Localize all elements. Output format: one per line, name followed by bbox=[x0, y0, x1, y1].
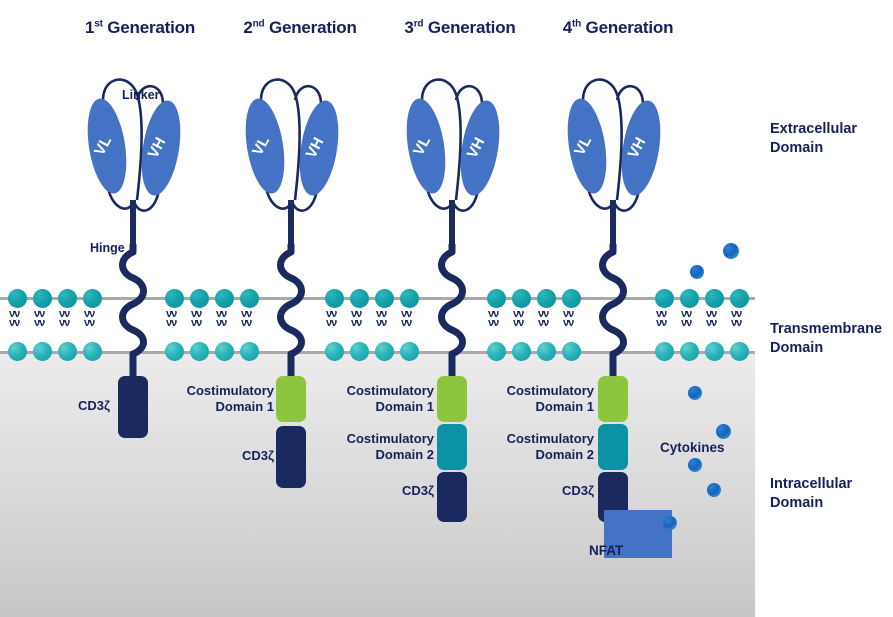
transmembrane-helix bbox=[117, 244, 149, 380]
lipid-head-icon bbox=[33, 289, 52, 308]
lipid-head-icon bbox=[400, 342, 419, 361]
lipid-tail-icon: νννν bbox=[488, 310, 498, 328]
gen3-box-cos2 bbox=[437, 424, 467, 470]
cytokine-particle bbox=[707, 483, 721, 497]
lipid-head-icon bbox=[655, 289, 674, 308]
lipid-head-icon bbox=[537, 342, 556, 361]
gen4-costim2-label: Costimulatory Domain 2 bbox=[496, 431, 594, 464]
lipid-tail-icon: νννν bbox=[9, 310, 19, 328]
gen3-box-cos1 bbox=[437, 376, 467, 422]
lipid-head-icon bbox=[165, 342, 184, 361]
lipid-head-icon bbox=[215, 342, 234, 361]
gen-suffix: nd bbox=[253, 18, 265, 29]
gen-ordinal: 2 bbox=[243, 18, 252, 37]
cytokine-particle bbox=[663, 516, 677, 530]
hinge-region bbox=[288, 200, 294, 248]
lipid-head-icon bbox=[83, 289, 102, 308]
lipid-head-icon bbox=[350, 342, 369, 361]
lipid-head-icon bbox=[190, 289, 209, 308]
gen2-costim1-label: Costimulatory Domain 1 bbox=[176, 383, 274, 416]
lipid-tail-icon: νννν bbox=[731, 310, 741, 328]
gen4-box-cos1 bbox=[598, 376, 628, 422]
lipid-tail-icon: νννν bbox=[326, 310, 336, 328]
lipid-tail-icon: νννν bbox=[706, 310, 716, 328]
lipid-head-icon bbox=[537, 289, 556, 308]
linker-label: Linker bbox=[122, 88, 160, 102]
lipid-head-icon bbox=[705, 342, 724, 361]
gen-label: Generation bbox=[586, 18, 674, 37]
lipid-tail-icon: νννν bbox=[656, 310, 666, 328]
lipid-head-icon bbox=[487, 342, 506, 361]
lipid-tail-icon: νννν bbox=[241, 310, 251, 328]
generation-title-2: 2nd Generation bbox=[243, 18, 356, 38]
lipid-tail-icon: νννν bbox=[513, 310, 523, 328]
gen-suffix: th bbox=[572, 18, 581, 29]
lipid-tail-icon: νννν bbox=[59, 310, 69, 328]
generation-title-3: 3rd Generation bbox=[404, 18, 515, 38]
hinge-region bbox=[610, 200, 616, 248]
cytokines-label: Cytokines bbox=[660, 440, 725, 455]
lipid-head-icon bbox=[375, 289, 394, 308]
cytokine-particle bbox=[723, 243, 739, 259]
car-generations-diagram: 1st Generation 2nd Generation 3rd Genera… bbox=[0, 0, 893, 617]
lipid-head-icon bbox=[655, 342, 674, 361]
cytokine-particle bbox=[688, 386, 702, 400]
lipid-head-icon bbox=[58, 342, 77, 361]
side-label-transmembrane: Transmembrane Domain bbox=[770, 320, 882, 358]
lipid-tail-icon: νννν bbox=[563, 310, 573, 328]
lipid-head-icon bbox=[512, 289, 531, 308]
gen-suffix: rd bbox=[414, 18, 424, 29]
hinge-region bbox=[130, 200, 136, 248]
gen-ordinal: 3 bbox=[404, 18, 413, 37]
lipid-head-icon bbox=[705, 289, 724, 308]
gen-label: Generation bbox=[269, 18, 357, 37]
lipid-head-icon bbox=[730, 289, 749, 308]
lipid-head-icon bbox=[325, 289, 344, 308]
lipid-tail-icon: νννν bbox=[681, 310, 691, 328]
gen-ordinal: 1 bbox=[85, 18, 94, 37]
generation-title-1: 1st Generation bbox=[85, 18, 195, 38]
lipid-tail-icon: νννν bbox=[401, 310, 411, 328]
cytokine-particle bbox=[690, 265, 704, 279]
lipid-head-icon bbox=[8, 342, 27, 361]
lipid-head-icon bbox=[8, 289, 27, 308]
lipid-head-icon bbox=[190, 342, 209, 361]
lipid-tail-icon: νννν bbox=[84, 310, 94, 328]
transmembrane-helix bbox=[436, 244, 468, 380]
gen-ordinal: 4 bbox=[563, 18, 572, 37]
gen4-box-cos2 bbox=[598, 424, 628, 470]
lipid-tail-icon: νννν bbox=[376, 310, 386, 328]
gen2-cd3zeta-label: CD3ζ bbox=[176, 448, 274, 464]
cytokine-particle bbox=[688, 458, 702, 472]
lipid-tail-icon: νννν bbox=[34, 310, 44, 328]
transmembrane-helix bbox=[597, 244, 629, 380]
lipid-head-icon bbox=[680, 289, 699, 308]
lipid-head-icon bbox=[487, 289, 506, 308]
lipid-head-icon bbox=[83, 342, 102, 361]
gen4-cd3zeta-label: CD3ζ bbox=[496, 483, 594, 499]
side-label-extracellular: Extracellular Domain bbox=[770, 120, 857, 158]
lipid-head-icon bbox=[680, 342, 699, 361]
gen4-costim1-label: Costimulatory Domain 1 bbox=[496, 383, 594, 416]
nfat-label: NFAT bbox=[589, 543, 623, 558]
lipid-head-icon bbox=[240, 342, 259, 361]
lipid-head-icon bbox=[375, 342, 394, 361]
hinge-label: Hinge bbox=[90, 241, 125, 255]
gen-label: Generation bbox=[428, 18, 516, 37]
gen2-box-cos1 bbox=[276, 376, 306, 422]
gen3-cd3zeta-label: CD3ζ bbox=[336, 483, 434, 499]
lipid-tail-icon: νννν bbox=[191, 310, 201, 328]
gen-suffix: st bbox=[94, 18, 103, 29]
gen3-box-cd3 bbox=[437, 472, 467, 522]
gen3-costim1-label: Costimulatory Domain 1 bbox=[336, 383, 434, 416]
gen1-cd3zeta-label: CD3ζ bbox=[18, 398, 110, 414]
lipid-tail-icon: νννν bbox=[351, 310, 361, 328]
gen3-costim2-label: Costimulatory Domain 2 bbox=[336, 431, 434, 464]
lipid-head-icon bbox=[325, 342, 344, 361]
lipid-head-icon bbox=[240, 289, 259, 308]
lipid-head-icon bbox=[350, 289, 369, 308]
gen2-box-cd3 bbox=[276, 426, 306, 488]
lipid-head-icon bbox=[165, 289, 184, 308]
generation-title-4: 4th Generation bbox=[563, 18, 674, 38]
lipid-head-icon bbox=[730, 342, 749, 361]
hinge-region bbox=[449, 200, 455, 248]
lipid-head-icon bbox=[215, 289, 234, 308]
lipid-tail-icon: νννν bbox=[166, 310, 176, 328]
lipid-head-icon bbox=[512, 342, 531, 361]
lipid-tail-icon: νννν bbox=[538, 310, 548, 328]
lipid-head-icon bbox=[400, 289, 419, 308]
lipid-head-icon bbox=[58, 289, 77, 308]
lipid-tail-icon: νννν bbox=[216, 310, 226, 328]
gen-label: Generation bbox=[107, 18, 195, 37]
transmembrane-helix bbox=[275, 244, 307, 380]
gen1-box-cd3 bbox=[118, 376, 148, 438]
cytokine-particle bbox=[716, 424, 731, 439]
lipid-head-icon bbox=[562, 342, 581, 361]
lipid-head-icon bbox=[33, 342, 52, 361]
lipid-head-icon bbox=[562, 289, 581, 308]
side-label-intracellular: Intracellular Domain bbox=[770, 475, 852, 513]
